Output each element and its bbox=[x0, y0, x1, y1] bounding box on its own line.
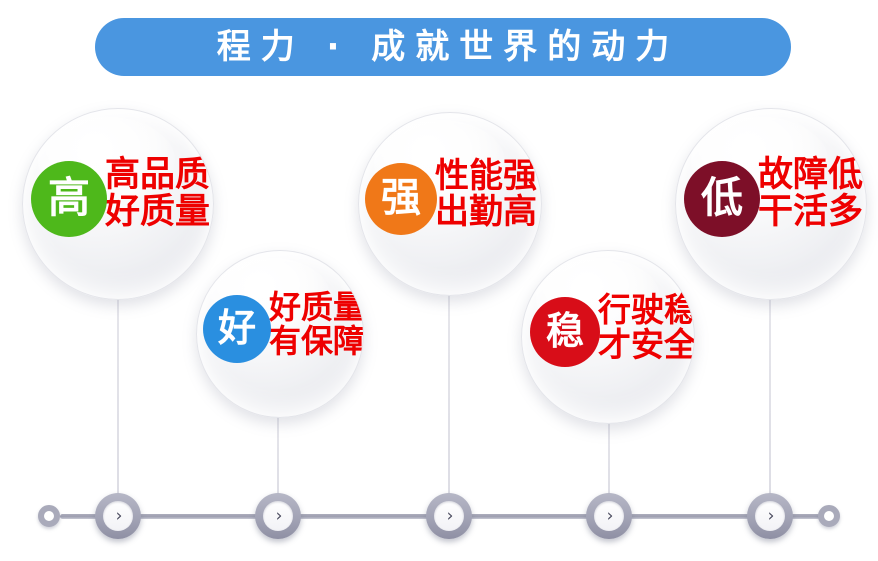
timeline-node-inner-2: › bbox=[263, 501, 293, 531]
feature-line-1a: 高品质 bbox=[105, 157, 210, 194]
feature-badge-char-5: 低 bbox=[701, 177, 743, 219]
feature-badge-2: 好 bbox=[203, 295, 271, 363]
feature-line-3a: 性能强 bbox=[435, 159, 537, 195]
feature-bubble-5[interactable]: 低 故障低 干活多 bbox=[675, 108, 867, 300]
timeline-node-5[interactable]: › bbox=[747, 493, 793, 539]
feature-badge-char-2: 好 bbox=[218, 309, 256, 347]
feature-text-3: 性能强 出勤高 bbox=[435, 159, 537, 230]
chevron-right-icon: › bbox=[116, 508, 123, 525]
chevron-right-icon: › bbox=[768, 508, 775, 525]
feature-line-3b: 出勤高 bbox=[435, 195, 537, 231]
feature-bubble-3[interactable]: 强 性能强 出勤高 bbox=[358, 112, 542, 296]
connector-stem-3 bbox=[448, 272, 450, 518]
timeline-node-2[interactable]: › bbox=[255, 493, 301, 539]
feature-line-4a: 行驶稳 bbox=[598, 293, 695, 328]
feature-bubble-2[interactable]: 好 好质量 有保障 bbox=[196, 250, 364, 418]
timeline-node-1[interactable]: › bbox=[95, 493, 141, 539]
banner-title: 程力 · 成就世界的动力 bbox=[207, 30, 680, 64]
feature-badge-4: 稳 bbox=[530, 297, 600, 367]
feature-bubble-4[interactable]: 稳 行驶稳 才安全 bbox=[521, 250, 695, 424]
chevron-right-icon: › bbox=[607, 508, 614, 525]
chevron-right-icon: › bbox=[276, 508, 283, 525]
connector-stem-1 bbox=[117, 268, 119, 518]
feature-line-5a: 故障低 bbox=[758, 157, 863, 194]
feature-line-2a: 好质量 bbox=[269, 291, 364, 325]
feature-text-5: 故障低 干活多 bbox=[758, 157, 863, 231]
timeline-node-inner-3: › bbox=[434, 501, 464, 531]
feature-line-1b: 好质量 bbox=[105, 194, 210, 231]
title-banner: 程力 · 成就世界的动力 bbox=[95, 18, 791, 76]
feature-text-2: 好质量 有保障 bbox=[269, 291, 364, 358]
infographic-canvas: 程力 · 成就世界的动力 高 高品质 好质量 好 好质量 有保障 强 性能强 出… bbox=[0, 0, 878, 561]
feature-line-4b: 才安全 bbox=[598, 328, 695, 363]
timeline-node-inner-4: › bbox=[594, 501, 624, 531]
feature-text-4: 行驶稳 才安全 bbox=[598, 293, 695, 362]
connector-stem-5 bbox=[769, 268, 771, 518]
feature-badge-char-4: 稳 bbox=[546, 312, 584, 350]
feature-bubble-1[interactable]: 高 高品质 好质量 bbox=[22, 108, 214, 300]
feature-badge-1: 高 bbox=[31, 161, 107, 237]
feature-line-5b: 干活多 bbox=[758, 194, 863, 231]
chevron-right-icon: › bbox=[447, 508, 454, 525]
feature-badge-3: 强 bbox=[365, 163, 437, 235]
feature-text-1: 高品质 好质量 bbox=[105, 157, 210, 231]
feature-badge-5: 低 bbox=[684, 161, 760, 237]
feature-badge-char-1: 高 bbox=[48, 177, 90, 219]
timeline-node-4[interactable]: › bbox=[586, 493, 632, 539]
timeline-end-ring-right bbox=[818, 505, 840, 527]
timeline-node-inner-5: › bbox=[755, 501, 785, 531]
timeline-node-inner-1: › bbox=[103, 501, 133, 531]
feature-badge-char-3: 强 bbox=[381, 178, 421, 218]
timeline-end-ring-left bbox=[38, 505, 60, 527]
feature-line-2b: 有保障 bbox=[269, 325, 364, 359]
timeline-node-3[interactable]: › bbox=[426, 493, 472, 539]
